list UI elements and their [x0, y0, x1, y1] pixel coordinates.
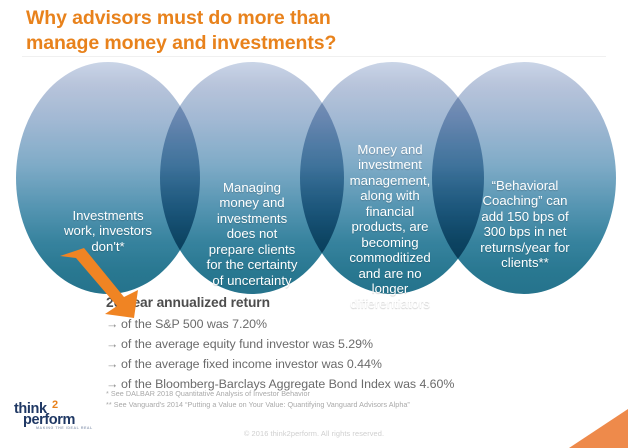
page-title: Why advisors must do more than manage mo…	[26, 6, 566, 57]
copyright-notice: © 2016 think2perform. All rights reserve…	[0, 429, 628, 438]
list-item: →of the average equity fund investor was…	[106, 335, 556, 355]
footnote-vanguard: ** See Vanguard's 2014 “Putting a Value …	[106, 400, 576, 411]
corner-triangle-decoration	[569, 409, 628, 448]
list-item-label: of the average fixed income investor was…	[121, 357, 382, 371]
footnotes: * See DALBAR 2018 Quantitative Analysis …	[106, 389, 576, 411]
title-divider	[22, 56, 606, 57]
list-item: →of the S&P 500 was 7.20%	[106, 315, 556, 335]
ellipse-label-behavioral-coaching: “Behavioral Coaching” can add 150 bps of…	[440, 178, 610, 271]
list-item-label: of the S&P 500 was 7.20%	[121, 317, 267, 331]
logo-superscript-two: 2	[52, 400, 58, 411]
footnote-dalbar: * See DALBAR 2018 Quantitative Analysis …	[106, 389, 576, 400]
returns-list: →of the S&P 500 was 7.20% →of the averag…	[106, 315, 556, 395]
orange-down-arrow-icon	[58, 248, 144, 318]
right-arrow-icon: →	[106, 355, 121, 375]
slide-canvas: Why advisors must do more than manage mo…	[0, 0, 628, 448]
list-item: →of the average fixed income investor wa…	[106, 355, 556, 375]
right-arrow-icon: →	[106, 335, 121, 355]
list-item-label: of the average equity fund investor was …	[121, 337, 373, 351]
